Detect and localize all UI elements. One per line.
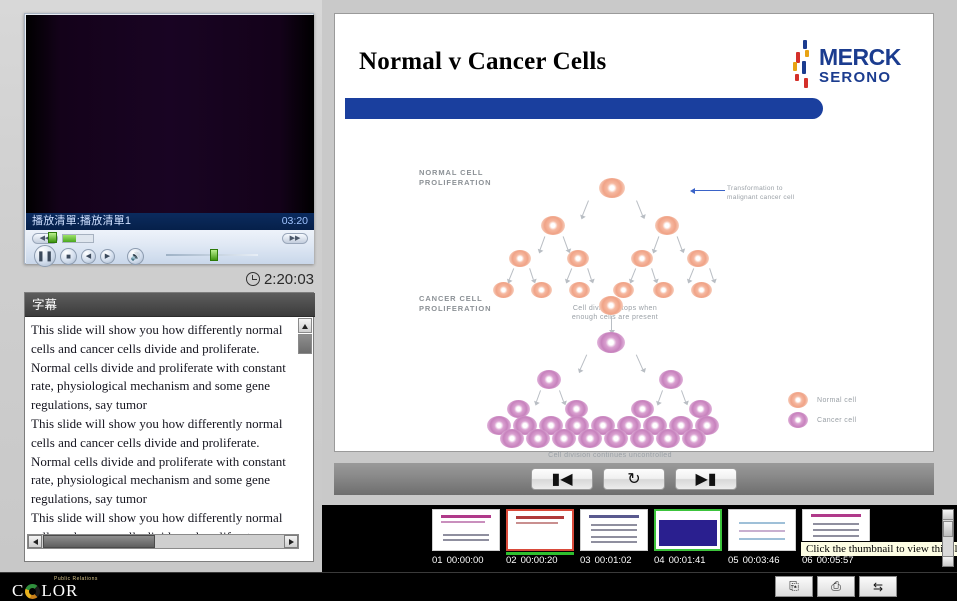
legend-label-cancer: Cancer cell <box>817 417 856 424</box>
brand-circle-icon <box>25 584 40 599</box>
subtitle-header: 字幕 <box>25 293 315 317</box>
slide-frame[interactable]: Normal v Cancer Cells MERCK SERONO NORMA… <box>334 13 934 452</box>
cancer-origin-cell <box>599 296 623 315</box>
transformation-arrow <box>695 190 725 191</box>
thumbnail-item[interactable] <box>580 509 648 555</box>
cancer-cell <box>682 429 706 448</box>
normal-cell <box>691 282 712 298</box>
normal-cell <box>569 282 590 298</box>
thumbnail-image[interactable] <box>580 509 648 551</box>
subtitle-horizontal-scrollbar[interactable] <box>27 534 299 549</box>
left-panel: 播放清單:播放清單1 03:20 ◀◀ ▶▶ ❚❚ ■ ◀ ▶ 🔊 <box>0 0 322 572</box>
fastforward-icon[interactable]: ▶▶ <box>282 233 308 244</box>
cancer-cell <box>526 429 550 448</box>
thumbnail-time: 00:01:02 <box>595 555 632 566</box>
scroll-up-icon[interactable] <box>943 510 953 520</box>
thumbnail-time: 00:03:46 <box>743 555 780 566</box>
subtitle-line: This slide will show you how differently… <box>31 321 295 415</box>
thumbnail-index: 04 <box>654 555 665 566</box>
slide-accent-bar <box>345 98 823 119</box>
thumbnail-meta: 05 00:03:46 <box>728 555 796 566</box>
subtitle-scroll-up-button[interactable] <box>298 318 312 333</box>
transport-controls[interactable]: ❚❚ ■ ◀ ▶ 🔊 <box>34 245 144 267</box>
merck-serono-logo: MERCK SERONO <box>793 40 911 92</box>
playlist-title: 播放清單:播放清單1 <box>32 213 131 230</box>
brand-wordmark: C LOR <box>12 581 78 601</box>
thumbnail-index: 03 <box>580 555 591 566</box>
scroll-right-icon[interactable] <box>284 535 298 548</box>
normal-cell <box>509 250 531 267</box>
thumbnail-image[interactable] <box>506 509 574 551</box>
pause-button[interactable]: ❚❚ <box>34 245 56 267</box>
previous-slide-button[interactable]: ▮◀ <box>531 468 593 490</box>
clock-icon <box>246 272 260 286</box>
malignant-cell <box>597 332 625 353</box>
slide-control-bar[interactable]: ▮◀ ↻ ▶▮ <box>334 463 934 495</box>
thumbnail-index: 05 <box>728 555 739 566</box>
thumbnail-meta: 04 00:01:41 <box>654 555 722 566</box>
cancer-cell <box>630 429 654 448</box>
thumbnail-time: 00:01:41 <box>669 555 706 566</box>
skip-back-icon: ▮◀ <box>551 469 572 489</box>
thumbnail-index: 06 <box>802 555 813 566</box>
replay-icon: ↻ <box>627 469 640 489</box>
player-duration: 03:20 <box>282 213 308 230</box>
normal-cell <box>653 282 674 298</box>
player-controls[interactable]: ◀◀ ▶▶ ❚❚ ■ ◀ ▶ 🔊 <box>26 230 314 264</box>
volume-icon[interactable]: 🔊 <box>127 248 144 265</box>
thumbnail-image[interactable] <box>654 509 722 551</box>
thumbnail-meta: 02 00:00:20 <box>506 555 574 566</box>
normal-cell <box>531 282 552 298</box>
swap-panels-icon[interactable]: ⇆ <box>859 576 897 597</box>
thumbnail-index: 01 <box>432 555 443 566</box>
cancer-caption: Cell division continues uncontrolled <box>510 451 710 460</box>
cancer-cell-label: CANCER CELLPROLIFERATION <box>419 294 491 314</box>
replay-slide-button[interactable]: ↻ <box>603 468 665 490</box>
cancer-cell <box>552 429 576 448</box>
next-slide-button[interactable]: ▶▮ <box>675 468 737 490</box>
subtitle-text: This slide will show you how differently… <box>27 319 299 542</box>
normal-cell <box>541 216 565 235</box>
elapsed-time: 2:20:03 <box>24 268 314 290</box>
thumbnail-image[interactable] <box>432 509 500 551</box>
seek-knob[interactable] <box>48 232 57 243</box>
cancer-cell <box>659 370 683 389</box>
thumbnail-time: 00:00:00 <box>447 555 484 566</box>
next-track-button[interactable]: ▶ <box>100 249 115 264</box>
window-dock-icon[interactable]: ⎙ <box>817 576 855 597</box>
status-toolbar[interactable]: ⎘ ⎙ ⇆ <box>775 576 897 597</box>
thumbnail-image[interactable] <box>728 509 796 551</box>
normal-cell-root <box>599 178 625 198</box>
normal-cell <box>631 250 653 267</box>
scrollbar-thumb[interactable] <box>943 521 953 537</box>
slide-area: Normal v Cancer Cells MERCK SERONO NORMA… <box>322 0 957 505</box>
thumbnail-item-current[interactable] <box>654 509 722 555</box>
subtitle-panel[interactable]: 字幕 This slide will show you how differen… <box>24 292 314 562</box>
volume-knob[interactable] <box>210 249 218 261</box>
player-titlebar: 播放清單:播放清單1 03:20 <box>26 213 314 230</box>
stop-button[interactable]: ■ <box>60 248 77 265</box>
slide-title: Normal v Cancer Cells <box>359 48 606 76</box>
brand-text-left: C <box>12 581 24 601</box>
legend-label-normal: Normal cell <box>817 397 856 404</box>
status-bar: Public Relations C LOR ⎘ ⎙ ⇆ <box>0 572 957 600</box>
subtitle-scrollbar-thumb[interactable] <box>298 334 312 354</box>
cancer-cell <box>604 429 628 448</box>
thumbnail-timestamps: 01 00:00:00 02 00:00:20 03 00:01:02 04 0… <box>432 555 870 566</box>
seek-row[interactable]: ◀◀ ▶▶ <box>32 233 308 244</box>
thumbnail-meta: 03 00:01:02 <box>580 555 648 566</box>
thumbnail-strip[interactable]: Click the thumbnail to view this slide. … <box>322 505 957 572</box>
previous-track-button[interactable]: ◀ <box>81 249 96 264</box>
cancer-cell <box>500 429 524 448</box>
legend-swatch-normal <box>788 392 808 408</box>
seek-track[interactable] <box>62 234 94 243</box>
brand-text-right: LOR <box>41 581 78 601</box>
media-player[interactable]: 播放清單:播放清單1 03:20 ◀◀ ▶▶ ❚❚ ■ ◀ ▶ 🔊 <box>24 13 314 264</box>
merck-wordmark: MERCK SERONO <box>819 46 901 86</box>
color-logo: Public Relations C LOR <box>8 576 128 599</box>
transformation-note: Transformation tomalignant cancer cell <box>727 184 794 202</box>
normal-cell <box>655 216 679 235</box>
merck-name: MERCK <box>819 46 901 69</box>
subtitle-line: This slide will show you how differently… <box>31 415 295 509</box>
cancer-cell <box>656 429 680 448</box>
thumbnail-item[interactable] <box>432 509 500 555</box>
thumbnail-meta: 01 00:00:00 <box>432 555 500 566</box>
window-restore-icon[interactable]: ⎘ <box>775 576 813 597</box>
cancer-cell <box>631 400 654 418</box>
thumbnail-time: 00:00:20 <box>521 555 558 566</box>
volume-slider[interactable] <box>166 250 258 260</box>
thumbnail-index: 02 <box>506 555 517 566</box>
skip-forward-icon: ▶▮ <box>695 469 716 489</box>
scroll-down-icon[interactable] <box>943 556 953 566</box>
scroll-left-icon[interactable] <box>28 535 42 548</box>
video-stage[interactable] <box>26 15 314 213</box>
normal-cell <box>687 250 709 267</box>
normal-cell <box>493 282 514 298</box>
merck-tick-marks <box>793 40 815 92</box>
cancer-cell <box>578 429 602 448</box>
seek-fill <box>63 235 76 242</box>
thumbnail-item-selected[interactable] <box>506 509 574 555</box>
merck-sub: SERONO <box>819 70 901 86</box>
thumbnail-item[interactable] <box>728 509 796 555</box>
legend-swatch-cancer <box>788 412 808 428</box>
thumbnail-time: 00:05:57 <box>817 555 854 566</box>
cell-proliferation-diagram: NORMAL CELLPROLIFERATION CANCER CELLPROL… <box>335 124 935 452</box>
cancer-cell <box>537 370 561 389</box>
thumbnail-scrollbar[interactable] <box>942 509 954 567</box>
normal-cell-label: NORMAL CELLPROLIFERATION <box>419 168 491 188</box>
clock-time: 2:20:03 <box>264 271 314 288</box>
normal-cell <box>613 282 634 298</box>
horizontal-scroll-thumb[interactable] <box>43 535 155 548</box>
thumbnail-meta: 06 00:05:57 <box>802 555 870 566</box>
normal-cell <box>567 250 589 267</box>
